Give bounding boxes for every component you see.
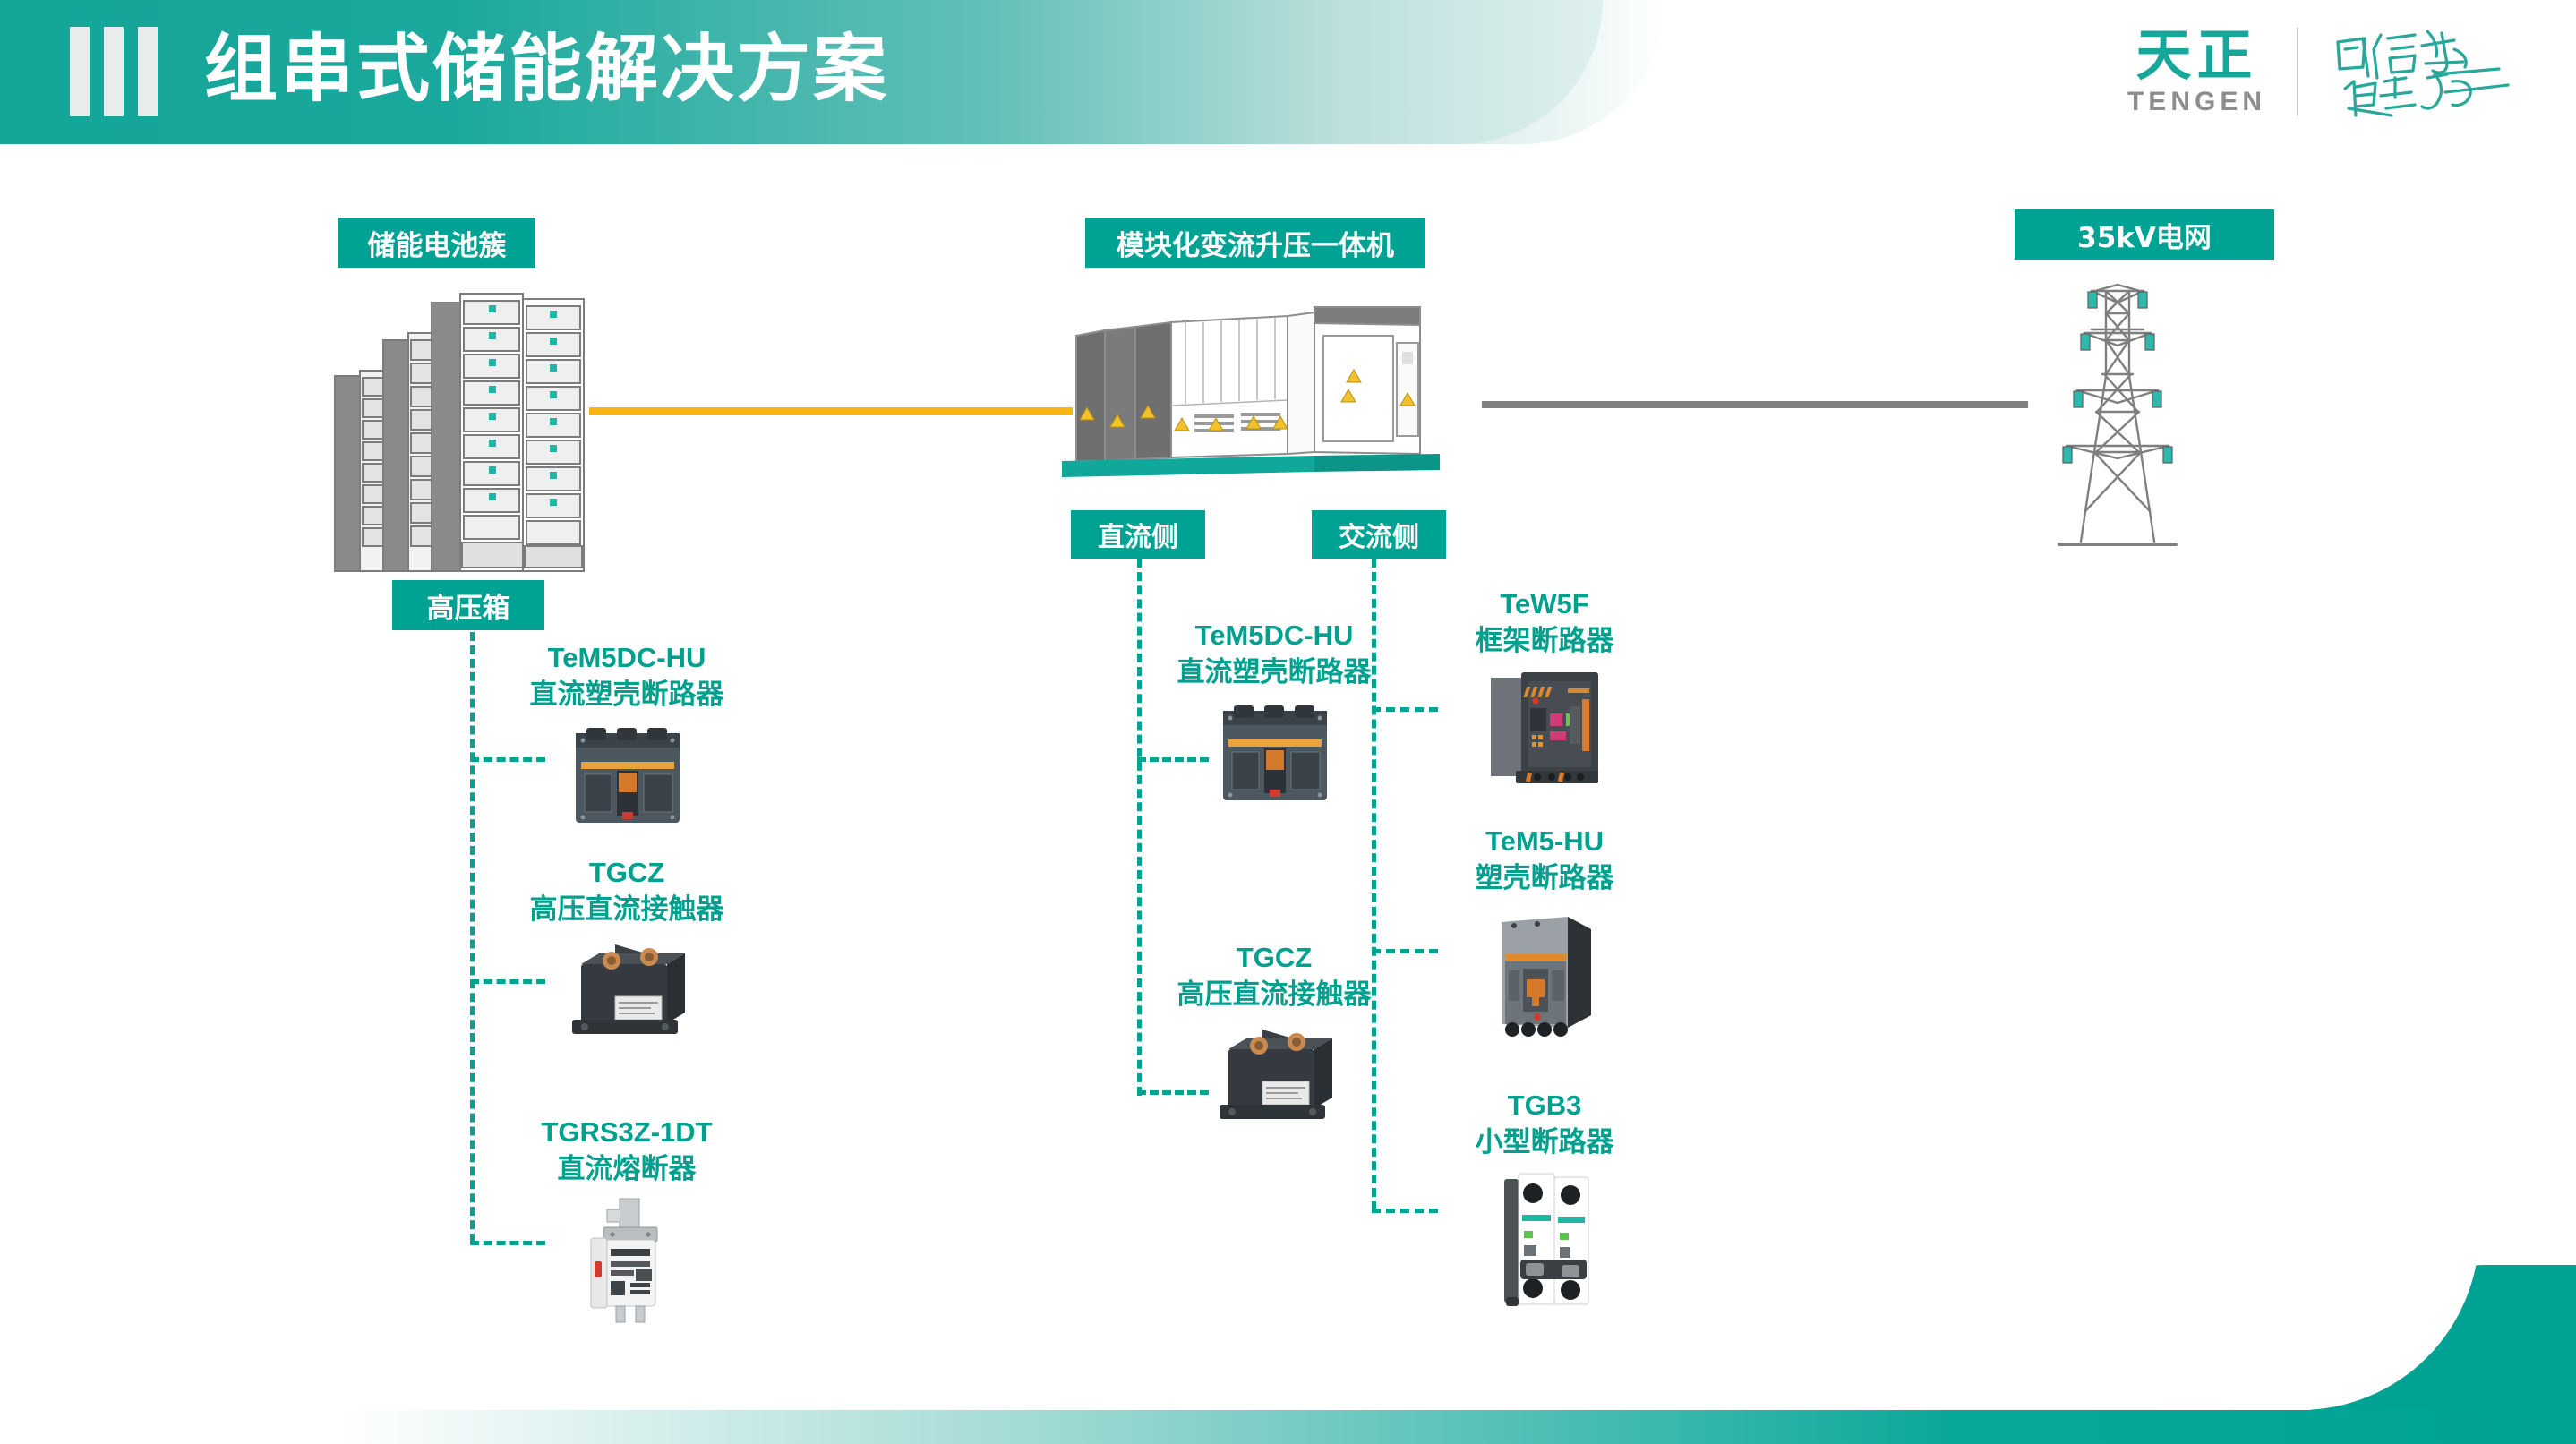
molded-case-breaker-dc-icon xyxy=(501,719,752,840)
product-name: 高压直流接触器 xyxy=(501,891,752,928)
converter-container-illustration xyxy=(1046,300,1449,492)
dc-fuse-icon xyxy=(497,1193,757,1332)
product-callout-left-2: TGCZ 高压直流接触器 xyxy=(501,855,752,1055)
brand-divider xyxy=(2297,28,2298,115)
brand-name-cn: 天正 xyxy=(2135,26,2257,85)
molded-case-breaker-dc-icon xyxy=(1144,696,1404,817)
dc-contactor-icon xyxy=(1144,1019,1404,1140)
molded-case-breaker-icon xyxy=(1424,902,1665,1041)
stage-label-battery: 储能电池簇 xyxy=(338,218,535,268)
product-callout-left-3: TGRS3Z-1DT 直流熔断器 xyxy=(497,1115,757,1332)
sub-label-dc-side: 直流侧 xyxy=(1071,510,1205,559)
transmission-tower-illustration xyxy=(2006,269,2229,560)
product-name: 直流塑壳断路器 xyxy=(1144,654,1404,691)
product-model: TeW5F xyxy=(1424,586,1665,622)
product-model: TeM5-HU xyxy=(1424,824,1665,859)
tengen-logo: 天正 TENGEN xyxy=(2127,26,2266,117)
stage-label-converter: 模块化变流升压一体机 xyxy=(1085,218,1425,268)
stage-label-grid: 35kV电网 xyxy=(2015,209,2274,260)
sub-label-ac-side: 交流侧 xyxy=(1312,510,1446,559)
air-circuit-breaker-icon xyxy=(1424,665,1665,790)
brand-slogan-handwriting xyxy=(2329,22,2526,121)
dc-contactor-icon xyxy=(501,934,752,1055)
ac-bus-link xyxy=(1482,401,2028,408)
product-model: TGCZ xyxy=(501,855,752,891)
brand-logo-group: 天正 TENGEN xyxy=(2127,18,2526,125)
product-model: TeM5DC-HU xyxy=(501,640,752,676)
bottom-accent-bar xyxy=(340,1410,2576,1444)
product-model: TGRS3Z-1DT xyxy=(497,1115,757,1150)
product-callout-ac-1: TeW5F 框架断路器 xyxy=(1424,586,1665,790)
product-model: TGCZ xyxy=(1144,940,1404,976)
product-callout-dc-1: TeM5DC-HU 直流塑壳断路器 xyxy=(1144,618,1404,817)
product-name: 框架断路器 xyxy=(1424,622,1665,660)
product-callout-dc-2: TGCZ 高压直流接触器 xyxy=(1144,940,1404,1140)
product-model: TeM5DC-HU xyxy=(1144,618,1404,654)
miniature-circuit-breaker-icon xyxy=(1424,1166,1665,1314)
product-name: 小型断路器 xyxy=(1424,1124,1665,1161)
product-callout-ac-3: TGB3 小型断路器 xyxy=(1424,1088,1665,1314)
header-accent-bars-icon xyxy=(70,27,175,116)
dc-bus-link xyxy=(589,407,1073,415)
connector-left-trunk xyxy=(470,632,475,1243)
product-name: 塑壳断路器 xyxy=(1424,859,1665,897)
sub-label-hv-box: 高压箱 xyxy=(392,580,544,630)
product-name: 直流塑壳断路器 xyxy=(501,676,752,713)
product-model: TGB3 xyxy=(1424,1088,1665,1124)
brand-name-en: TENGEN xyxy=(2127,87,2266,117)
connector-dc-trunk xyxy=(1137,559,1142,1096)
product-name: 高压直流接触器 xyxy=(1144,976,1404,1013)
product-name: 直流熔断器 xyxy=(497,1150,757,1188)
page-title: 组串式储能解决方案 xyxy=(204,21,889,118)
product-callout-ac-2: TeM5-HU 塑壳断路器 xyxy=(1424,824,1665,1041)
battery-rack-illustration xyxy=(331,278,600,573)
product-callout-left-1: TeM5DC-HU 直流塑壳断路器 xyxy=(501,640,752,840)
